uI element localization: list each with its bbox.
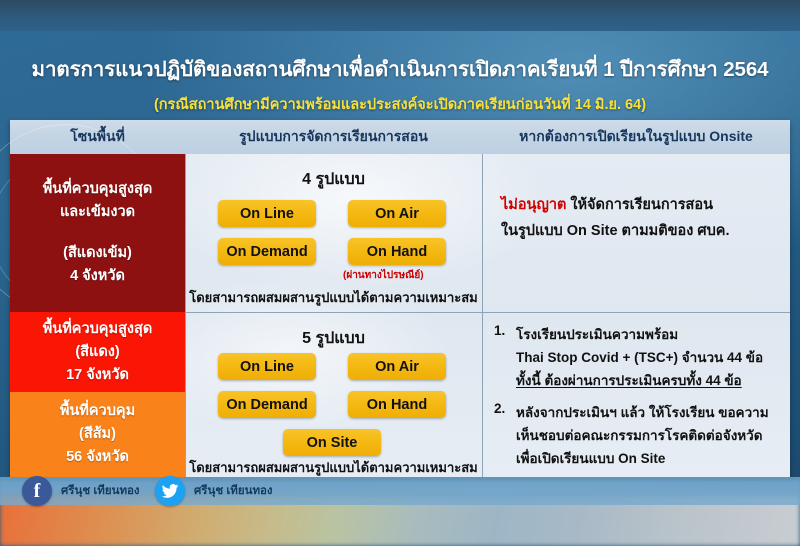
zone-province-count: 17 จังหวัด bbox=[66, 364, 129, 387]
table-body: พื้นที่ควบคุมสูงสุด และเข้มงวด (สีแดงเข้… bbox=[10, 154, 790, 477]
onsite-item-marker: 2. bbox=[494, 401, 505, 416]
divider-row bbox=[185, 312, 790, 313]
mode-button-onair[interactable]: On Air bbox=[348, 353, 446, 380]
onsite-item-line: เพื่อเปิดเรียนแบบ On Site bbox=[516, 447, 769, 470]
zone-block-orange: พื้นที่ควบคุม (สีส้ม) 56 จังหวัด bbox=[10, 392, 185, 477]
onsite-denial-line1: ไม่อนุญาต ให้จัดการเรียนการสอน bbox=[501, 192, 713, 218]
divider-mode-onsite bbox=[482, 154, 483, 477]
onsite-item-line: โรงเรียนประเมินความพร้อม bbox=[516, 323, 763, 346]
mode-button-onsite[interactable]: On Site bbox=[283, 429, 381, 456]
mode-cell-row1: 4 รูปแบบ On Line On Air On Demand On Han… bbox=[185, 154, 482, 312]
mode-button-onair[interactable]: On Air bbox=[348, 200, 446, 227]
column-header-mode: รูปแบบการจัดการเรียนการสอน bbox=[185, 120, 482, 154]
social-facebook[interactable]: f ศรีนุช เทียนทอง bbox=[22, 477, 140, 505]
onsite-item-1: โรงเรียนประเมินความพร้อม Thai Stop Covid… bbox=[516, 323, 763, 392]
onsite-cell-row2: 1. โรงเรียนประเมินความพร้อม Thai Stop Co… bbox=[482, 312, 790, 477]
zone-color-label: (สีแดงเข้ม) bbox=[63, 242, 132, 265]
mode-button-online[interactable]: On Line bbox=[218, 200, 316, 227]
zone-block-dark-red: พื้นที่ควบคุมสูงสุด และเข้มงวด (สีแดงเข้… bbox=[10, 154, 185, 312]
zone-block-red: พื้นที่ควบคุมสูงสุด (สีแดง) 17 จังหวัด bbox=[10, 312, 185, 392]
column-header-zone: โซนพื้นที่ bbox=[10, 120, 185, 154]
mode-button-onhand[interactable]: On Hand bbox=[348, 238, 446, 265]
facebook-glyph: f bbox=[34, 480, 41, 503]
mode-button-ondemand[interactable]: On Demand bbox=[218, 238, 316, 265]
table-header-row: โซนพื้นที่ รูปแบบการจัดการเรียนการสอน หา… bbox=[10, 120, 790, 155]
mode-heading: 5 รูปแบบ bbox=[185, 326, 482, 351]
background-top-strip bbox=[0, 0, 800, 31]
zone-label-line: และเข้มงวด bbox=[60, 201, 135, 224]
measures-table: โซนพื้นที่ รูปแบบการจัดการเรียนการสอน หา… bbox=[10, 120, 790, 477]
onsite-item-2: หลังจากประเมินฯ แล้ว ให้โรงเรียน ขอความ … bbox=[516, 401, 769, 470]
mode-cell-row2: 5 รูปแบบ On Line On Air On Demand On Han… bbox=[185, 312, 482, 477]
zone-province-count: 4 จังหวัด bbox=[70, 265, 125, 288]
zone-label-line: พื้นที่ควบคุมสูงสุด bbox=[43, 318, 153, 341]
twitter-icon[interactable] bbox=[155, 476, 185, 506]
mode-footer-note: โดยสามารถผสมผสานรูปแบบได้ตามความเหมาะสม bbox=[185, 457, 482, 478]
column-header-onsite: หากต้องการเปิดเรียนในรูปแบบ Onsite bbox=[482, 120, 790, 154]
denial-keyword: ไม่อนุญาต bbox=[501, 197, 566, 213]
onsite-item-line-underlined: ทั้งนี้ ต้องผ่านการประเมินครบทั้ง 44 ข้อ bbox=[516, 369, 763, 392]
mode-button-note: (ผ่านทางไปรษณีย์) bbox=[343, 268, 424, 283]
divider-zone-mode bbox=[185, 154, 186, 477]
facebook-account-name: ศรีนุช เทียนทอง bbox=[61, 482, 140, 500]
onsite-item-marker: 1. bbox=[494, 323, 505, 338]
zone-color-label: (สีแดง) bbox=[75, 341, 119, 364]
zone-label-line: พื้นที่ควบคุมสูงสุด bbox=[43, 178, 153, 201]
infographic-root: มาตรการแนวปฏิบัติของสถานศึกษาเพื่อดำเนิน… bbox=[0, 0, 800, 546]
mode-button-onhand[interactable]: On Hand bbox=[348, 391, 446, 418]
zone-label-line: พื้นที่ควบคุม bbox=[60, 400, 135, 423]
social-twitter[interactable]: ศรีนุช เทียนทอง bbox=[155, 477, 273, 505]
zone-color-label: (สีส้ม) bbox=[79, 423, 116, 446]
onsite-item-line: Thai Stop Covid + (TSC+) จำนวน 44 ข้อ bbox=[516, 346, 763, 369]
page-title: มาตรการแนวปฏิบัติของสถานศึกษาเพื่อดำเนิน… bbox=[0, 53, 800, 86]
mode-button-ondemand[interactable]: On Demand bbox=[218, 391, 316, 418]
onsite-denial-line2: ในรูปแบบ On Site ตามมติของ ศบค. bbox=[501, 218, 730, 244]
twitter-account-name: ศรีนุช เทียนทอง bbox=[194, 482, 273, 500]
onsite-item-line: หลังจากประเมินฯ แล้ว ให้โรงเรียน ขอความ bbox=[516, 401, 769, 424]
mode-footer-note: โดยสามารถผสมผสานรูปแบบได้ตามความเหมาะสม bbox=[185, 287, 482, 308]
denial-rest: ให้จัดการเรียนการสอน bbox=[566, 197, 713, 213]
zone-province-count: 56 จังหวัด bbox=[66, 446, 129, 469]
onsite-cell-row1: ไม่อนุญาต ให้จัดการเรียนการสอน ในรูปแบบ … bbox=[482, 154, 790, 312]
mode-heading: 4 รูปแบบ bbox=[185, 167, 482, 192]
onsite-item-line: เห็นชอบต่อคณะกรรมการโรคติดต่อจังหวัด bbox=[516, 424, 769, 447]
page-subtitle: (กรณีสถานศึกษามีความพร้อมและประสงค์จะเปิ… bbox=[0, 93, 800, 116]
mode-button-online[interactable]: On Line bbox=[218, 353, 316, 380]
facebook-icon[interactable]: f bbox=[22, 476, 52, 506]
